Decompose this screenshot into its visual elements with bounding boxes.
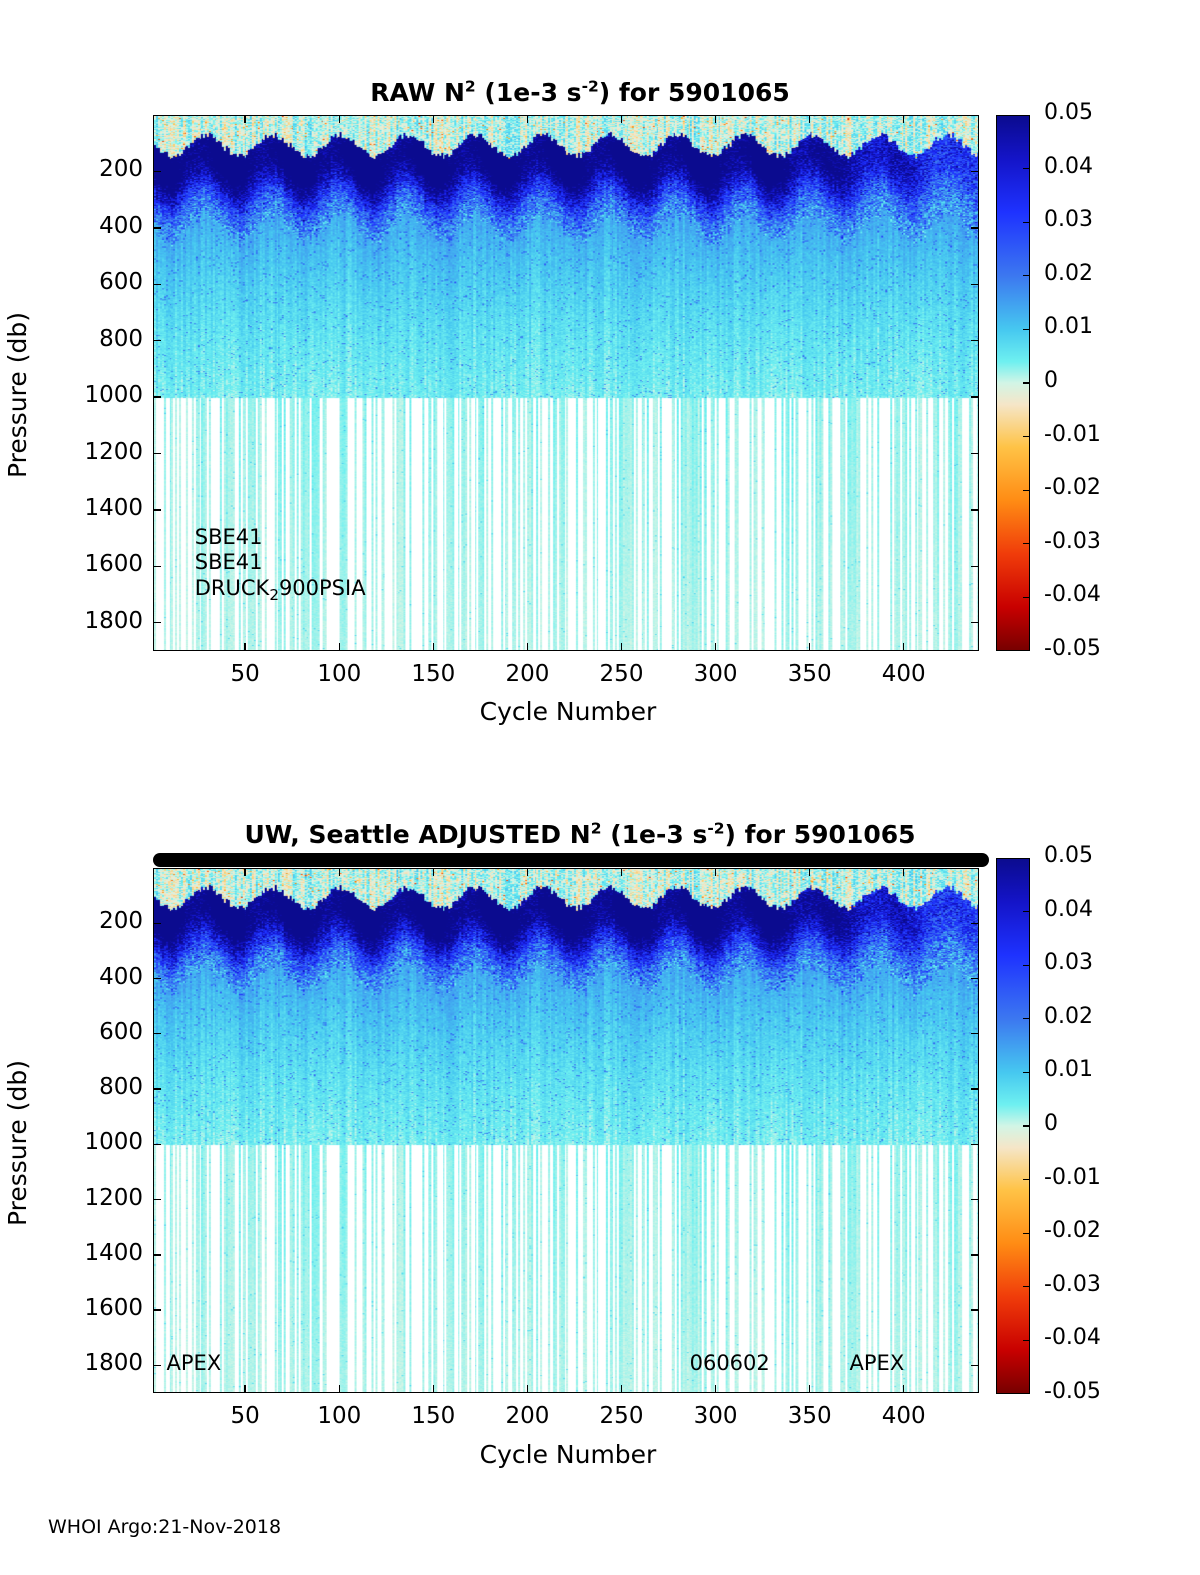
y-tick-mark-right (971, 978, 979, 979)
y-tick-mark-right (971, 396, 979, 397)
panel-adjusted-title-prefix: UW, Seattle ADJUSTED N (244, 820, 590, 849)
colorbar-tick-mark (1023, 168, 1030, 169)
y-tick-mark (153, 284, 161, 285)
x-tick-mark (339, 643, 340, 651)
x-tick-mark-top (715, 115, 716, 123)
heatmap-adjusted (154, 869, 978, 1392)
colorbar-tick-label: -0.01 (1044, 1165, 1101, 1190)
y-tick-label: 800 (35, 326, 143, 352)
y-tick-mark-right (971, 1088, 979, 1089)
x-tick-mark-top (809, 868, 810, 876)
y-tick-label: 1000 (35, 382, 143, 408)
y-tick-mark-right (971, 340, 979, 341)
colorbar-tick-label: 0 (1044, 1111, 1058, 1136)
y-tick-mark-right (971, 1033, 979, 1034)
x-tick-mark (339, 1385, 340, 1393)
plot-annotation: DRUCK2900PSIA (195, 576, 366, 600)
x-tick-mark-top (527, 868, 528, 876)
colorbar-tick-mark (1023, 543, 1030, 544)
colorbar-tick-label: 0 (1044, 368, 1058, 393)
colorbar-tick-label: 0.05 (1044, 100, 1093, 125)
y-tick-mark (153, 1033, 161, 1034)
colorbar-tick-mark (1023, 965, 1030, 966)
annotation-text: DRUCK (195, 576, 270, 600)
colorbar-tick-label: 0.01 (1044, 314, 1093, 339)
colorbar-tick-mark (1023, 1072, 1030, 1073)
x-tick-mark (433, 1385, 434, 1393)
y-tick-mark-right (971, 1144, 979, 1145)
x-tick-mark (903, 1385, 904, 1393)
plot-area-raw[interactable] (153, 115, 979, 651)
colorbar-tick-mark (1023, 597, 1030, 598)
x-tick-mark (244, 1385, 245, 1393)
x-tick-mark-top (715, 868, 716, 876)
y-tick-mark-right (971, 923, 979, 924)
y-tick-label: 1800 (35, 608, 143, 634)
colorbar-tick-mark (1023, 1179, 1030, 1180)
y-tick-mark-right (971, 453, 979, 454)
colorbar-tick-mark (1023, 275, 1030, 276)
x-tick-mark-top (339, 115, 340, 123)
y-tick-mark-right (971, 622, 979, 623)
y-tick-mark-right (971, 1309, 979, 1310)
x-tick-label: 100 (289, 1403, 389, 1429)
y-tick-mark (153, 1365, 161, 1366)
y-tick-label: 1800 (35, 1350, 143, 1376)
y-tick-mark-right (971, 284, 979, 285)
x-tick-mark (809, 643, 810, 651)
panel-adjusted-title-sup2: -2 (707, 820, 724, 838)
colorbar-tick-label: -0.05 (1044, 636, 1101, 661)
annotation-tail: 900PSIA (279, 576, 366, 600)
colorbar-tick-label: 0.02 (1044, 261, 1093, 286)
x-tick-label: 150 (383, 1403, 483, 1429)
x-tick-mark-top (433, 868, 434, 876)
y-tick-label: 400 (35, 213, 143, 239)
panel-adjusted-title-mid: (1e-3 s (601, 820, 707, 849)
colorbar-tick-label: -0.04 (1044, 1325, 1101, 1350)
y-axis-title-raw: Pressure (db) (3, 312, 32, 478)
y-tick-label: 1200 (35, 1185, 143, 1211)
y-tick-mark (153, 622, 161, 623)
panel-adjusted-title-suffix: ) for 5901065 (725, 820, 916, 849)
colorbar-tick-mark (1023, 1340, 1030, 1341)
colorbar-tick-label: -0.04 (1044, 582, 1101, 607)
colorbar-tick-mark (1023, 382, 1030, 383)
y-tick-label: 1600 (35, 551, 143, 577)
x-tick-mark-top (903, 868, 904, 876)
y-tick-label: 200 (35, 908, 143, 934)
plot-annotation: SBE41 (195, 550, 263, 574)
x-tick-label: 50 (195, 661, 295, 687)
x-tick-label: 250 (572, 661, 672, 687)
y-tick-mark (153, 227, 161, 228)
colorbar-tick-mark (1023, 1286, 1030, 1287)
colorbar-tick-label: 0.04 (1044, 154, 1093, 179)
colorbar-tick-label: -0.02 (1044, 475, 1101, 500)
y-tick-mark-right (971, 1365, 979, 1366)
plot-area-adjusted[interactable] (153, 868, 979, 1393)
colorbar-tick-label: 0.02 (1044, 1004, 1093, 1029)
y-tick-mark (153, 396, 161, 397)
x-tick-mark (527, 643, 528, 651)
colorbar-tick-label: -0.01 (1044, 422, 1101, 447)
y-tick-label: 1400 (35, 1240, 143, 1266)
y-tick-mark (153, 1199, 161, 1200)
colorbar-tick-label: -0.02 (1044, 1218, 1101, 1243)
panel-raw-title-suffix: ) for 5901065 (599, 78, 790, 107)
panel-raw-title-prefix: RAW N (370, 78, 465, 107)
colorbar-tick-mark (1023, 1018, 1030, 1019)
x-tick-mark-top (433, 115, 434, 123)
x-tick-mark-top (339, 868, 340, 876)
colorbar-tick-mark (1023, 1233, 1030, 1234)
y-tick-label: 600 (35, 269, 143, 295)
y-tick-label: 1400 (35, 495, 143, 521)
colorbar-tick-mark (1023, 490, 1030, 491)
x-tick-mark-top (244, 115, 245, 123)
x-tick-mark (527, 1385, 528, 1393)
x-tick-label: 100 (289, 661, 389, 687)
y-tick-label: 1200 (35, 439, 143, 465)
colorbar-tick-label: 0.05 (1044, 843, 1093, 868)
colorbar-tick-mark (1023, 222, 1030, 223)
y-axis-title-adjusted: Pressure (db) (3, 1060, 32, 1226)
annotation-subscript: 2 (269, 586, 279, 604)
y-tick-label: 1600 (35, 1295, 143, 1321)
panel-raw-title-mid: (1e-3 s (476, 78, 582, 107)
x-tick-mark-top (809, 115, 810, 123)
y-tick-label: 200 (35, 156, 143, 182)
x-tick-mark-top (621, 868, 622, 876)
y-tick-mark (153, 978, 161, 979)
x-tick-mark-top (903, 115, 904, 123)
x-tick-mark (715, 1385, 716, 1393)
qc-flag-bar (153, 853, 989, 867)
y-tick-mark-right (971, 566, 979, 567)
plot-annotation: APEX (167, 1351, 222, 1375)
x-tick-label: 350 (760, 661, 860, 687)
colorbar-tick-label: -0.03 (1044, 1272, 1101, 1297)
colorbar-tick-label: 0.01 (1044, 1057, 1093, 1082)
colorbar-tick-label: 0.03 (1044, 207, 1093, 232)
y-tick-mark-right (971, 1199, 979, 1200)
plot-annotation: APEX (850, 1351, 905, 1375)
y-tick-mark (153, 509, 161, 510)
colorbar-tick-label: -0.03 (1044, 529, 1101, 554)
x-tick-mark (433, 643, 434, 651)
y-tick-label: 800 (35, 1074, 143, 1100)
y-tick-mark (153, 1309, 161, 1310)
plot-annotation: 060602 (690, 1351, 770, 1375)
x-tick-mark-top (527, 115, 528, 123)
x-tick-label: 250 (572, 1403, 672, 1429)
colorbar-tick-mark (1023, 911, 1030, 912)
colorbar-tick-mark (1023, 436, 1030, 437)
panel-raw-title: RAW N2 (1e-3 s-2) for 5901065 (150, 78, 1010, 107)
y-tick-label: 400 (35, 964, 143, 990)
panel-raw-title-sup2: -2 (582, 78, 599, 96)
y-tick-mark (153, 923, 161, 924)
x-tick-mark-top (244, 868, 245, 876)
x-tick-label: 300 (666, 1403, 766, 1429)
x-tick-mark-top (621, 115, 622, 123)
y-tick-mark-right (971, 171, 979, 172)
x-tick-label: 200 (477, 661, 577, 687)
panel-raw-title-sup1: 2 (465, 78, 476, 96)
y-tick-label: 1000 (35, 1129, 143, 1155)
y-tick-mark (153, 171, 161, 172)
colorbar-tick-mark (1023, 329, 1030, 330)
plot-annotation: SBE41 (195, 525, 263, 549)
x-axis-title-adjusted: Cycle Number (153, 1440, 983, 1469)
y-tick-mark (153, 1254, 161, 1255)
x-tick-label: 200 (477, 1403, 577, 1429)
panel-adjusted-title: UW, Seattle ADJUSTED N2 (1e-3 s-2) for 5… (150, 820, 1010, 849)
y-tick-mark (153, 1144, 161, 1145)
x-tick-label: 150 (383, 661, 483, 687)
y-tick-label: 600 (35, 1019, 143, 1045)
y-tick-mark (153, 453, 161, 454)
x-tick-mark (621, 643, 622, 651)
panel-adjusted-title-sup1: 2 (591, 820, 602, 838)
x-tick-mark (244, 643, 245, 651)
x-tick-mark (809, 1385, 810, 1393)
x-tick-label: 300 (666, 661, 766, 687)
x-tick-mark (715, 643, 716, 651)
y-tick-mark (153, 566, 161, 567)
y-tick-mark (153, 340, 161, 341)
colorbar-tick-label: -0.05 (1044, 1379, 1101, 1404)
colorbar-tick-mark (1023, 1125, 1030, 1126)
x-tick-label: 400 (854, 661, 954, 687)
y-tick-mark (153, 1088, 161, 1089)
x-tick-label: 350 (760, 1403, 860, 1429)
y-tick-mark-right (971, 1254, 979, 1255)
heatmap-raw (154, 116, 978, 650)
x-tick-mark (621, 1385, 622, 1393)
x-tick-mark (903, 643, 904, 651)
colorbar-tick-label: 0.03 (1044, 950, 1093, 975)
figure-footer: WHOI Argo:21-Nov-2018 (48, 1516, 281, 1538)
x-tick-label: 50 (195, 1403, 295, 1429)
y-tick-mark-right (971, 509, 979, 510)
x-tick-label: 400 (854, 1403, 954, 1429)
x-axis-title-raw: Cycle Number (153, 697, 983, 726)
colorbar-tick-label: 0.04 (1044, 897, 1093, 922)
y-tick-mark-right (971, 227, 979, 228)
